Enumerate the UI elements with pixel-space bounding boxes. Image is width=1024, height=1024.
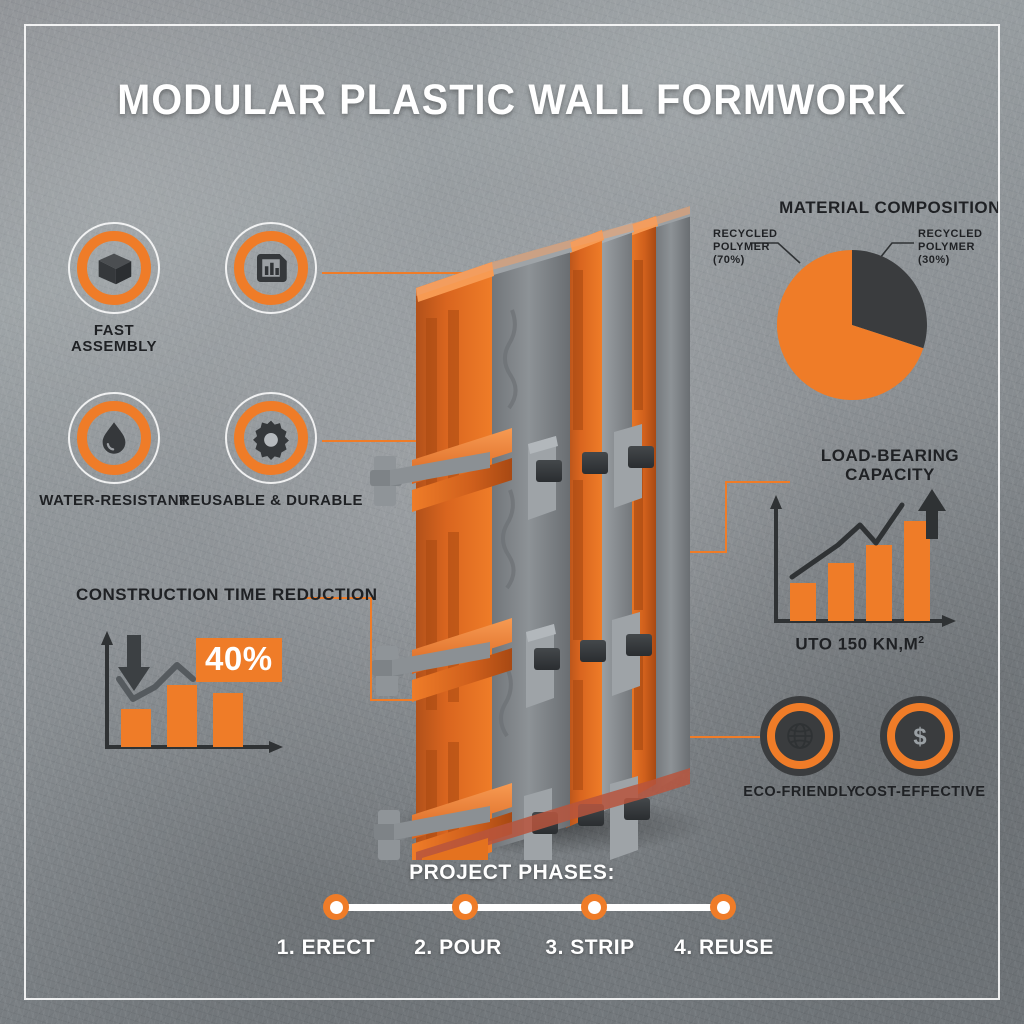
timeline-label-1: 1. ERECT (277, 936, 376, 960)
feature-performance-chart[interactable] (225, 222, 317, 314)
connector-line-loadbearing-vertical (725, 481, 727, 553)
benefit-cost-effective[interactable]: $ COST-EFFECTIVE (880, 696, 1024, 800)
badge-ring (760, 696, 840, 776)
feature-label: REUSABLE & DURABLE (171, 493, 371, 509)
feature-reusable-durable[interactable]: REUSABLE & DURABLE (225, 392, 371, 509)
page-title: MODULAR PLASTIC WALL FORMWORK (41, 76, 983, 125)
benefit-label: ECO-FRIENDLY (743, 784, 856, 800)
formwork-3d-model (360, 160, 720, 860)
bar-2 (828, 563, 854, 621)
formwork-illustration (360, 160, 720, 860)
badge-ring (225, 222, 317, 314)
badge-ring (68, 222, 160, 314)
globe-icon (783, 719, 817, 753)
pie-label-left: RECYCLED POLYMER (70%) (713, 228, 778, 267)
bar-chart-panel-icon (248, 245, 294, 291)
bar-3 (866, 545, 892, 621)
material-composition-title: MATERIAL COMPOSITION (740, 198, 1024, 218)
badge-ring (68, 392, 160, 484)
timeline-dot-1[interactable] (323, 894, 349, 920)
bar-3 (213, 693, 243, 747)
timeline-dot-3[interactable] (581, 894, 607, 920)
pie-label-right: RECYCLED POLYMER (30%) (918, 228, 983, 267)
project-phases-title: PROJECT PHASES: (0, 861, 1024, 885)
feature-label: FAST ASSEMBLY (29, 323, 199, 355)
load-bearing-caption: UTO 150 KN,M2 (750, 634, 970, 655)
timeline-track (336, 904, 722, 911)
timeline-dot-2[interactable] (452, 894, 478, 920)
infographic-canvas: MODULAR PLASTIC WALL FORMWORK (0, 0, 1024, 1024)
timeline-dot-4[interactable] (710, 894, 736, 920)
bar-1 (121, 709, 151, 747)
benefit-label: COST-EFFECTIVE (854, 784, 985, 800)
dollar-icon: $ (903, 719, 937, 753)
time-reduction-badge: 40% (196, 638, 282, 682)
timeline-label-4: 4. REUSE (674, 936, 774, 960)
connector-line-loadbearing-upper (725, 481, 790, 483)
cube-icon (91, 245, 137, 291)
load-bearing-title: LOAD-BEARING CAPACITY (800, 446, 980, 484)
bar-1 (790, 583, 816, 621)
water-drop-icon (91, 415, 137, 461)
badge-ring (225, 392, 317, 484)
badge-ring: $ (880, 696, 960, 776)
bar-2 (167, 685, 197, 747)
timeline-label-2: 2. POUR (414, 936, 502, 960)
svg-text:$: $ (913, 724, 926, 751)
timeline-label-3: 3. STRIP (545, 936, 634, 960)
load-bearing-bar-chart (750, 485, 970, 650)
feature-fast-assembly[interactable]: FAST ASSEMBLY (68, 222, 199, 355)
gear-icon (248, 415, 294, 461)
time-reduction-title: CONSTRUCTION TIME REDUCTION (76, 585, 378, 604)
